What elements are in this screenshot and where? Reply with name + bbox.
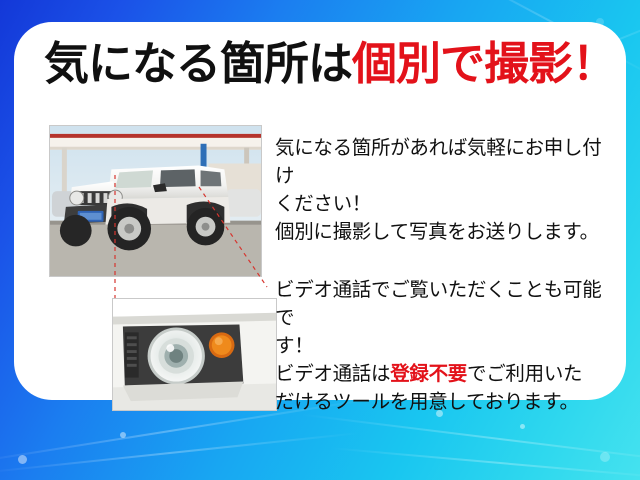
- content-card: 気になる箇所は個別で撮影！: [14, 22, 626, 400]
- headlight-detail-photo: [112, 298, 277, 411]
- paragraph2-line2: す！: [275, 332, 620, 360]
- paragraph1-line2: ください！: [275, 190, 620, 218]
- headline-black-part: 気になる箇所は: [44, 41, 352, 86]
- body-copy: 気になる箇所があれば気軽にお申し付け ください！ 個別に撮影して写真をお送りしま…: [275, 134, 620, 416]
- paragraph2-line1: ビデオ通話でご覧いただくことも可能で: [275, 276, 620, 332]
- vehicle-photo-graphic: [50, 126, 261, 276]
- page-title: 気になる箇所は個別で撮影！: [44, 32, 604, 94]
- paragraph1-line3: 個別に撮影して写真をお送りします。: [275, 218, 620, 246]
- no-registration-emphasis: 登録不要: [390, 363, 467, 385]
- paragraph2-line3: ビデオ通話は登録不要でご利用いた: [275, 360, 620, 388]
- paragraph-two: ビデオ通話でご覧いただくことも可能で す！ ビデオ通話は登録不要でご利用いた だ…: [275, 276, 620, 416]
- headline-red-part: 個別で撮影！: [352, 41, 616, 86]
- paragraph2-line3-post: でご利用いた: [467, 363, 582, 385]
- vehicle-photo: [49, 125, 262, 277]
- advertisement-banner: 気になる箇所は個別で撮影！: [0, 0, 640, 480]
- footer-bar: トヨナガ トヨナガ: [0, 400, 640, 480]
- paragraph1-line1: 気になる箇所があれば気軽にお申し付け: [275, 134, 620, 190]
- headlight-detail-graphic: [113, 299, 276, 410]
- paragraph2-line3-pre: ビデオ通話は: [275, 363, 390, 385]
- paragraph-one: 気になる箇所があれば気軽にお申し付け ください！ 個別に撮影して写真をお送りしま…: [275, 134, 620, 246]
